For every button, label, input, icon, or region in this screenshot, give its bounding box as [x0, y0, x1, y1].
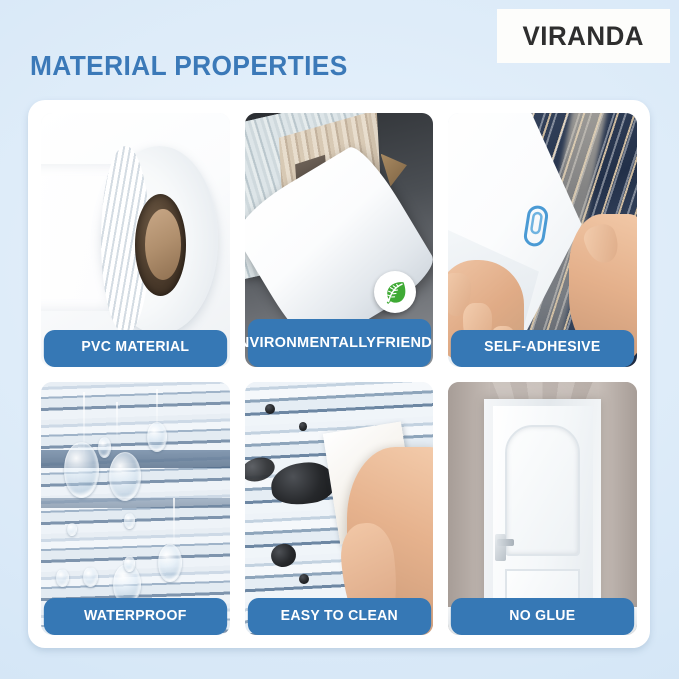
feature-card-self-adhesive[interactable]: SELF-ADHESIVE	[448, 113, 637, 367]
leaf-icon	[381, 278, 409, 306]
easy-to-clean-image	[245, 382, 434, 636]
door-handle-icon	[495, 534, 506, 562]
brand-logo: VIRANDA	[497, 9, 670, 63]
waterproof-image	[41, 382, 230, 636]
feature-card-label: PVC MATERIAL	[44, 330, 227, 367]
feature-card-waterproof[interactable]: WATERPROOF	[41, 382, 230, 636]
feature-card-no-glue[interactable]: NO GLUE	[448, 382, 637, 636]
self-adhesive-image	[448, 113, 637, 367]
feature-card-label: NO GLUE	[451, 598, 634, 635]
page-title: MATERIAL PROPERTIES	[30, 50, 348, 82]
pvc-material-image	[41, 113, 230, 367]
brand-logo-text: VIRANDA	[523, 21, 644, 52]
feature-grid-panel: PVC MATERIAL	[28, 100, 650, 648]
label-line-2: FRIENDLY	[376, 335, 433, 351]
feature-card-easy-to-clean[interactable]: EASY TO CLEAN	[245, 382, 434, 636]
feature-card-pvc-material[interactable]: PVC MATERIAL	[41, 113, 230, 367]
feature-card-label: WATERPROOF	[44, 598, 227, 635]
no-glue-image	[448, 382, 637, 636]
feature-card-label: ENVIRONMENTALLY FRIENDLY	[247, 319, 430, 367]
feature-card-label: EASY TO CLEAN	[247, 598, 430, 635]
label-line-1: ENVIRONMENTALLY	[245, 335, 376, 351]
feature-card-environmentally-friendly[interactable]: ENVIRONMENTALLY FRIENDLY	[245, 113, 434, 367]
feature-card-label: SELF-ADHESIVE	[451, 330, 634, 367]
